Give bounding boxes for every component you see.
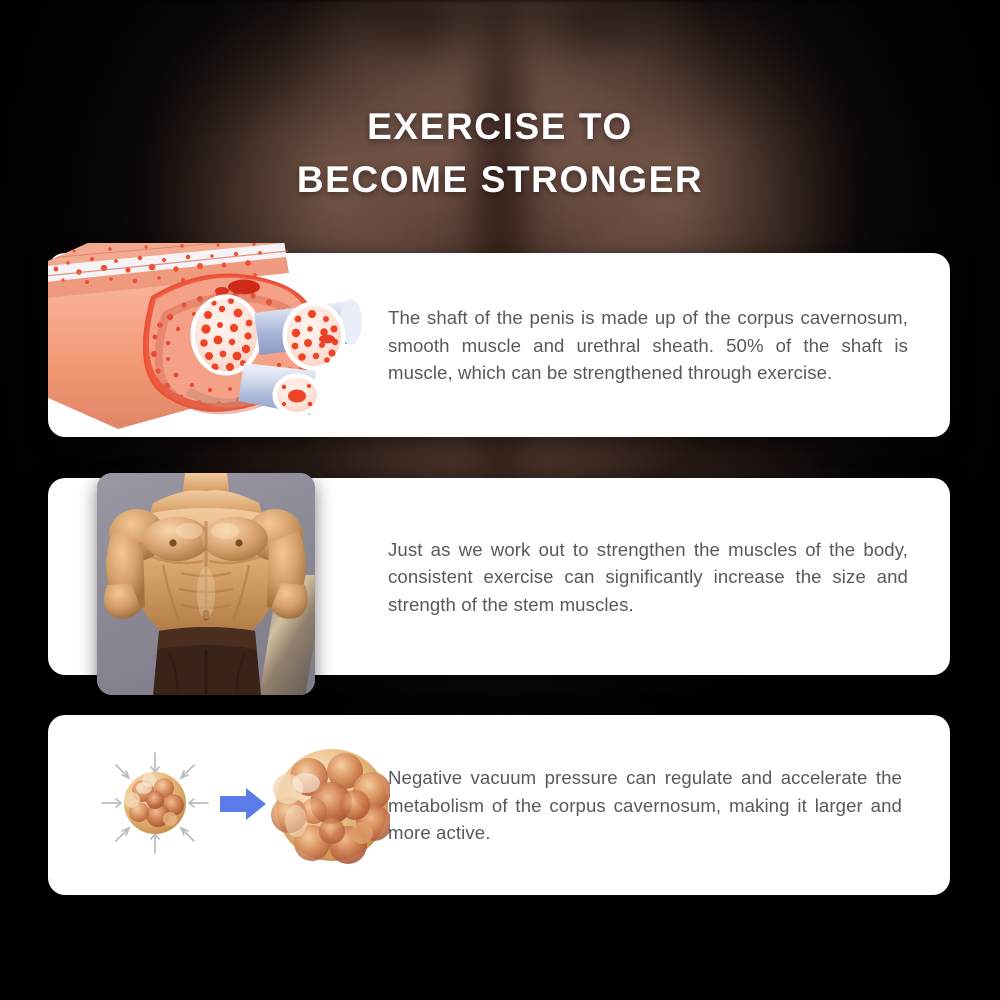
info-card-vacuum: Negative vacuum pressure can regulate an…: [48, 715, 950, 895]
penis-cross-section-illustration: [48, 239, 388, 439]
info-card-workout: Just as we work out to strengthen the mu…: [48, 478, 950, 675]
large-cell-cluster: [271, 749, 390, 864]
card-body-text: The shaft of the penis is made up of the…: [388, 304, 908, 387]
page-title-line-2: BECOME STRONGER: [0, 153, 1000, 206]
page-title-line-1: EXERCISE TO: [0, 100, 1000, 153]
page-title: EXERCISE TO BECOME STRONGER: [0, 100, 1000, 206]
bodybuilder-torso-photo: [97, 473, 315, 695]
torso-silhouette: [97, 473, 315, 695]
cell-expansion-illustration: [100, 743, 390, 869]
small-cell-cluster: [124, 772, 186, 834]
card-body-text: Just as we work out to strengthen the mu…: [388, 535, 908, 618]
info-card-anatomy: The shaft of the penis is made up of the…: [48, 253, 950, 437]
blue-arrow-icon: [220, 788, 266, 820]
card-body-text: Negative vacuum pressure can regulate an…: [388, 764, 902, 847]
